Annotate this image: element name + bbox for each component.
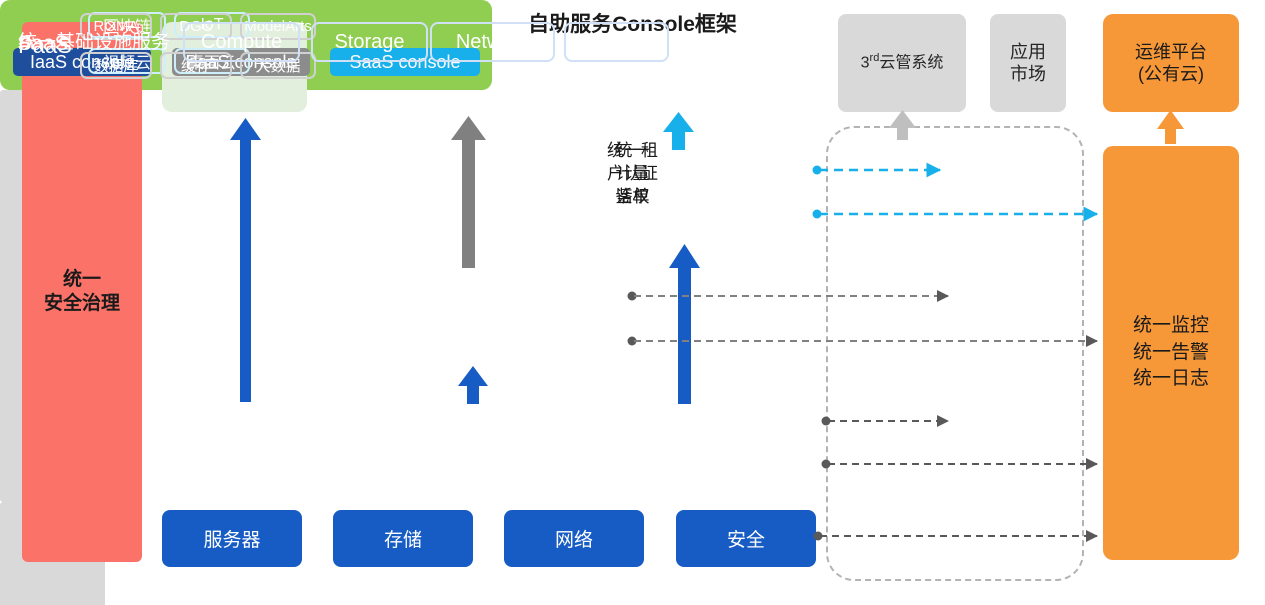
unified-infrastructure-label: 统一基础设施服务 bbox=[18, 27, 170, 54]
unified-security-governance-panel: 统一 安全治理 bbox=[22, 22, 142, 562]
infra-chip-network[interactable]: Network bbox=[430, 22, 555, 62]
app-market-line1: 应用 bbox=[1010, 41, 1046, 64]
third-party-cloud-mgmt-box: 3rd云管系统 bbox=[838, 14, 966, 112]
infra-chip-compute[interactable]: Compute bbox=[183, 22, 300, 62]
bottom-box-storage[interactable]: 存储 bbox=[333, 510, 473, 567]
metering-line2: 计量 bbox=[0, 163, 1265, 186]
arrow-infra-to-saas bbox=[669, 244, 700, 404]
app-market-label: 应用 市场 bbox=[1010, 41, 1046, 86]
architecture-diagram: 统一 安全治理 API网关 自助服务Console框架 IaaS console… bbox=[0, 0, 1265, 605]
unified-monitoring-column: 统一监控 统一告警 统一日志 bbox=[1103, 146, 1239, 560]
bottom-box-security[interactable]: 安全 bbox=[676, 510, 816, 567]
ops-platform-label: 运维平台 (公有云) bbox=[1135, 41, 1207, 86]
monitoring-line1: 统一监控 bbox=[1133, 313, 1209, 340]
third-party-superscript: rd bbox=[870, 52, 880, 64]
bottom-box-network[interactable]: 网络 bbox=[504, 510, 644, 567]
infra-chip-storage[interactable]: Storage bbox=[311, 22, 428, 62]
unified-metering-billing-label: 统一 计量 话单 bbox=[0, 140, 1265, 209]
app-market-box: 应用 市场 bbox=[990, 14, 1066, 112]
third-party-prefix: 3 bbox=[861, 55, 870, 72]
arrow-infra-to-paas bbox=[458, 366, 488, 404]
monitoring-line3: 统一日志 bbox=[1133, 366, 1209, 393]
unified-security-governance-label: 统一 安全治理 bbox=[44, 268, 120, 316]
ops-platform-line2: (公有云) bbox=[1135, 63, 1207, 86]
bottom-box-server[interactable]: 服务器 bbox=[162, 510, 302, 567]
ops-platform-public-cloud-box: 运维平台 (公有云) bbox=[1103, 14, 1239, 112]
paas-chip-database[interactable]: 数据库 bbox=[80, 52, 152, 79]
security-label-line1: 统一 bbox=[44, 268, 120, 292]
ops-platform-line1: 运维平台 bbox=[1135, 41, 1207, 64]
arrow-to-ops-platform bbox=[1157, 110, 1184, 144]
third-party-suffix: 云管系统 bbox=[879, 55, 943, 72]
infra-chip-cce[interactable]: CCE bbox=[564, 22, 669, 62]
monitoring-line2: 统一告警 bbox=[1133, 340, 1209, 367]
unified-monitoring-label: 统一监控 统一告警 统一日志 bbox=[1133, 313, 1209, 393]
metering-line3: 话单 bbox=[0, 186, 1265, 209]
security-label-line2: 安全治理 bbox=[44, 292, 120, 316]
app-market-line2: 市场 bbox=[1010, 63, 1046, 86]
metering-line1: 统一 bbox=[0, 140, 1265, 163]
third-party-cloud-mgmt-label: 3rd云管系统 bbox=[861, 52, 944, 73]
